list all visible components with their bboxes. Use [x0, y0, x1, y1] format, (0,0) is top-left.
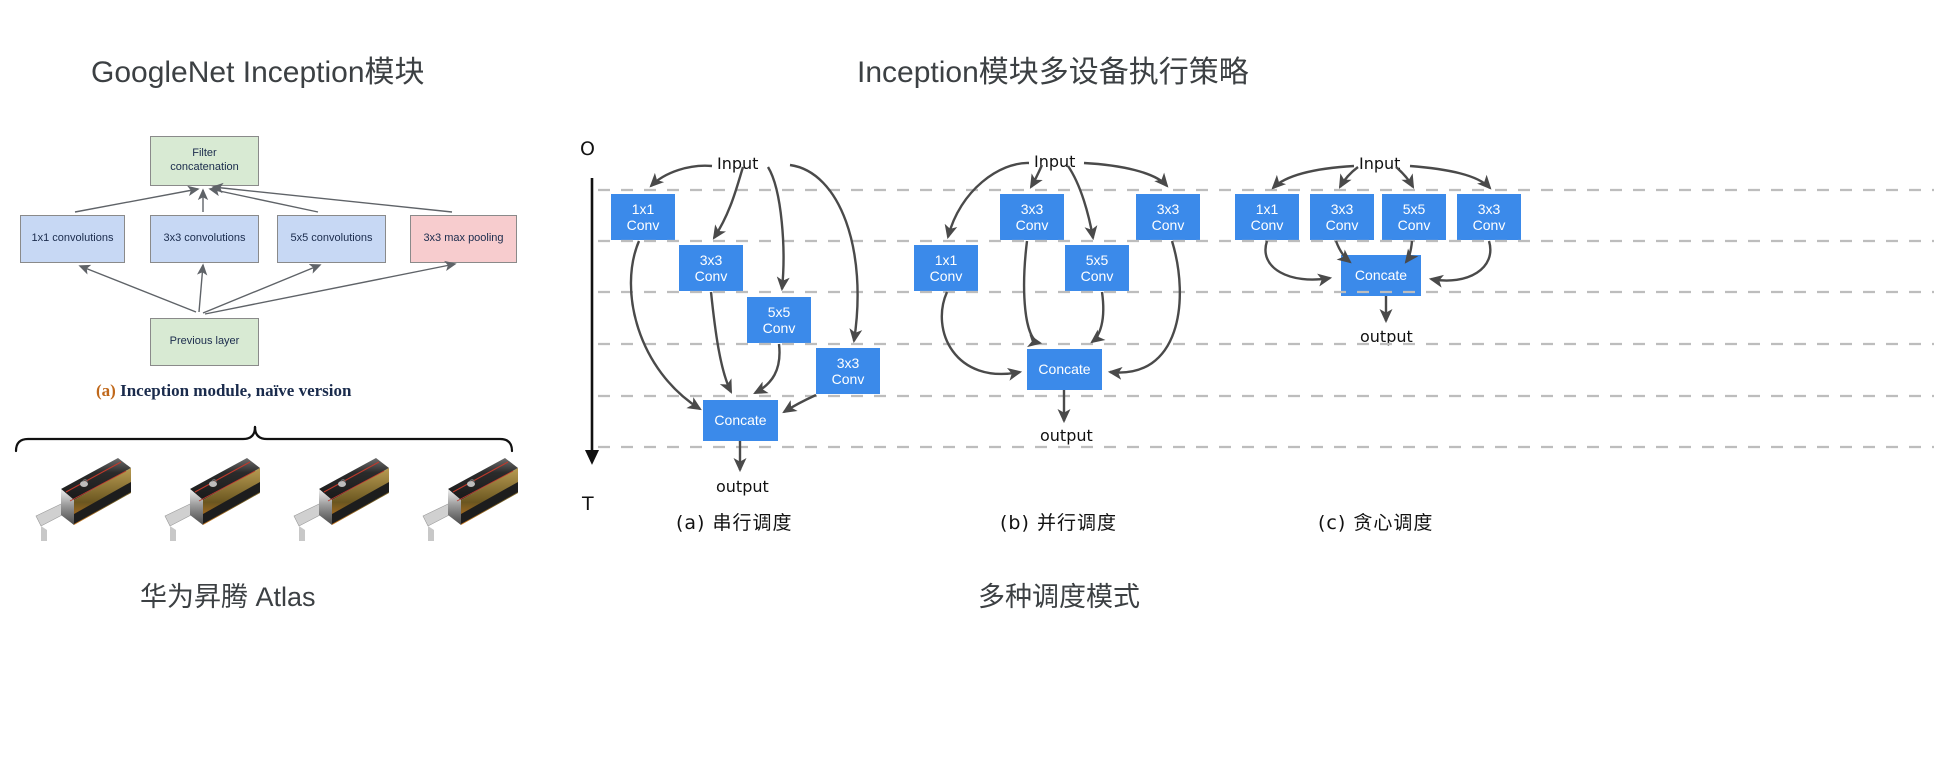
serial-node-1x1-conv-line2: Conv [627, 217, 660, 233]
ascend-atlas-card [423, 458, 518, 541]
right-panel-title: Inception模块多设备执行策略 [857, 47, 1249, 91]
filter-concatenation-block: Filter concatenation [150, 136, 259, 186]
greedy-arrows [1265, 166, 1490, 321]
serial-node-3x3-conv-pool-line1: 3x3 [837, 355, 860, 371]
greedy-caption: (c) 贪心调度 [1318, 508, 1433, 535]
serial-caption: (a) 串行调度 [676, 508, 793, 535]
parallel-input-label: Input [1034, 152, 1075, 171]
greedy-node-concate-label: Concate [1355, 267, 1407, 283]
parallel-caption-label: (b) [1000, 512, 1030, 534]
parallel-caption-text: 并行调度 [1037, 512, 1117, 534]
parallel-node-5x5-conv: 5x5 Conv [1065, 245, 1129, 291]
serial-node-1x1-conv-line1: 1x1 [632, 201, 655, 217]
serial-node-3x3-conv: 3x3 Conv [679, 245, 743, 291]
branch-1x1-convolutions: 1x1 convolutions [20, 215, 125, 263]
device-brace [16, 427, 512, 451]
serial-caption-label: (a) [676, 512, 705, 534]
greedy-node-3x3-conv: 3x3 Conv [1310, 194, 1374, 240]
branch-3x3-label: 3x3 convolutions [164, 232, 246, 246]
parallel-node-concate: Concate [1027, 349, 1102, 390]
branch-5x5-label: 5x5 convolutions [291, 232, 373, 246]
parallel-output-label: output [1040, 426, 1093, 445]
greedy-node-concate: Concate [1341, 255, 1421, 296]
serial-node-5x5-conv: 5x5 Conv [747, 297, 811, 343]
branch-3x3-max-pooling: 3x3 max pooling [410, 215, 517, 263]
parallel-node-3x3-conv-line2: Conv [1016, 217, 1049, 233]
previous-layer-block: Previous layer [150, 318, 259, 366]
greedy-node-1x1-conv-line2: Conv [1251, 217, 1284, 233]
parallel-node-1x1-conv: 1x1 Conv [914, 245, 978, 291]
serial-node-3x3-conv-line1: 3x3 [700, 252, 723, 268]
greedy-output-label: output [1360, 327, 1413, 346]
greedy-node-3x3-conv-line1: 3x3 [1331, 201, 1354, 217]
branch-1x1-label: 1x1 convolutions [32, 232, 114, 246]
greedy-input-label: Input [1359, 154, 1400, 173]
previous-layer-label: Previous layer [170, 335, 240, 349]
ascend-atlas-card [165, 458, 260, 541]
serial-node-3x3-conv-pool: 3x3 Conv [816, 348, 880, 394]
ascend-atlas-card [36, 458, 131, 541]
parallel-node-3x3-conv-line1: 3x3 [1021, 201, 1044, 217]
greedy-node-5x5-conv-line1: 5x5 [1403, 201, 1426, 217]
parallel-caption: (b) 并行调度 [1000, 508, 1117, 535]
left-panel-title: GoogleNet Inception模块 [91, 47, 425, 91]
schedule-panel-caption: 多种调度模式 [978, 575, 1140, 614]
greedy-node-3x3-conv-pool-line1: 3x3 [1478, 201, 1501, 217]
serial-node-concate-label: Concate [714, 412, 766, 428]
parallel-node-3x3-conv: 3x3 Conv [1000, 194, 1064, 240]
serial-caption-text: 串行调度 [713, 512, 793, 534]
greedy-node-1x1-conv-line1: 1x1 [1256, 201, 1279, 217]
device-group-caption: 华为昇腾 Atlas [140, 575, 316, 614]
parallel-node-5x5-conv-line1: 5x5 [1086, 252, 1109, 268]
inception-figure-caption-label: (a) [96, 381, 116, 400]
greedy-node-5x5-conv: 5x5 Conv [1382, 194, 1446, 240]
greedy-node-3x3-conv-pool-line2: Conv [1473, 217, 1506, 233]
parallel-node-3x3-conv-pool-line2: Conv [1152, 217, 1185, 233]
ascend-atlas-card-group [36, 458, 518, 541]
branch-5x5-convolutions: 5x5 convolutions [277, 215, 386, 263]
ascend-atlas-card [294, 458, 389, 541]
filter-concatenation-label-line2: concatenation [170, 161, 239, 175]
parallel-node-1x1-conv-line1: 1x1 [935, 252, 958, 268]
serial-node-5x5-conv-line2: Conv [763, 320, 796, 336]
branch-maxpool-label: 3x3 max pooling [423, 232, 503, 246]
parallel-node-3x3-conv-pool: 3x3 Conv [1136, 194, 1200, 240]
time-axis-origin-label: O [580, 138, 595, 160]
parallel-node-5x5-conv-line2: Conv [1081, 268, 1114, 284]
greedy-node-5x5-conv-line2: Conv [1398, 217, 1431, 233]
time-axis-end-label: T [582, 493, 594, 515]
inception-figure-caption: (a) Inception module, naïve version [96, 381, 351, 401]
inception-arrows [75, 187, 455, 314]
greedy-caption-label: (c) [1318, 512, 1346, 534]
branch-3x3-convolutions: 3x3 convolutions [150, 215, 259, 263]
greedy-node-3x3-conv-line2: Conv [1326, 217, 1359, 233]
serial-node-5x5-conv-line1: 5x5 [768, 304, 791, 320]
greedy-node-1x1-conv: 1x1 Conv [1235, 194, 1299, 240]
parallel-node-1x1-conv-line2: Conv [930, 268, 963, 284]
inception-figure-caption-text: Inception module, naïve version [120, 381, 351, 400]
serial-node-3x3-conv-pool-line2: Conv [832, 371, 865, 387]
filter-concatenation-label-line1: Filter [192, 147, 216, 161]
serial-input-label: Input [717, 154, 758, 173]
serial-node-1x1-conv: 1x1 Conv [611, 194, 675, 240]
greedy-node-3x3-conv-pool: 3x3 Conv [1457, 194, 1521, 240]
serial-node-3x3-conv-line2: Conv [695, 268, 728, 284]
serial-node-concate: Concate [703, 400, 778, 441]
parallel-node-3x3-conv-pool-line1: 3x3 [1157, 201, 1180, 217]
serial-output-label: output [716, 477, 769, 496]
parallel-node-concate-label: Concate [1038, 361, 1090, 377]
greedy-caption-text: 贪心调度 [1353, 512, 1433, 534]
